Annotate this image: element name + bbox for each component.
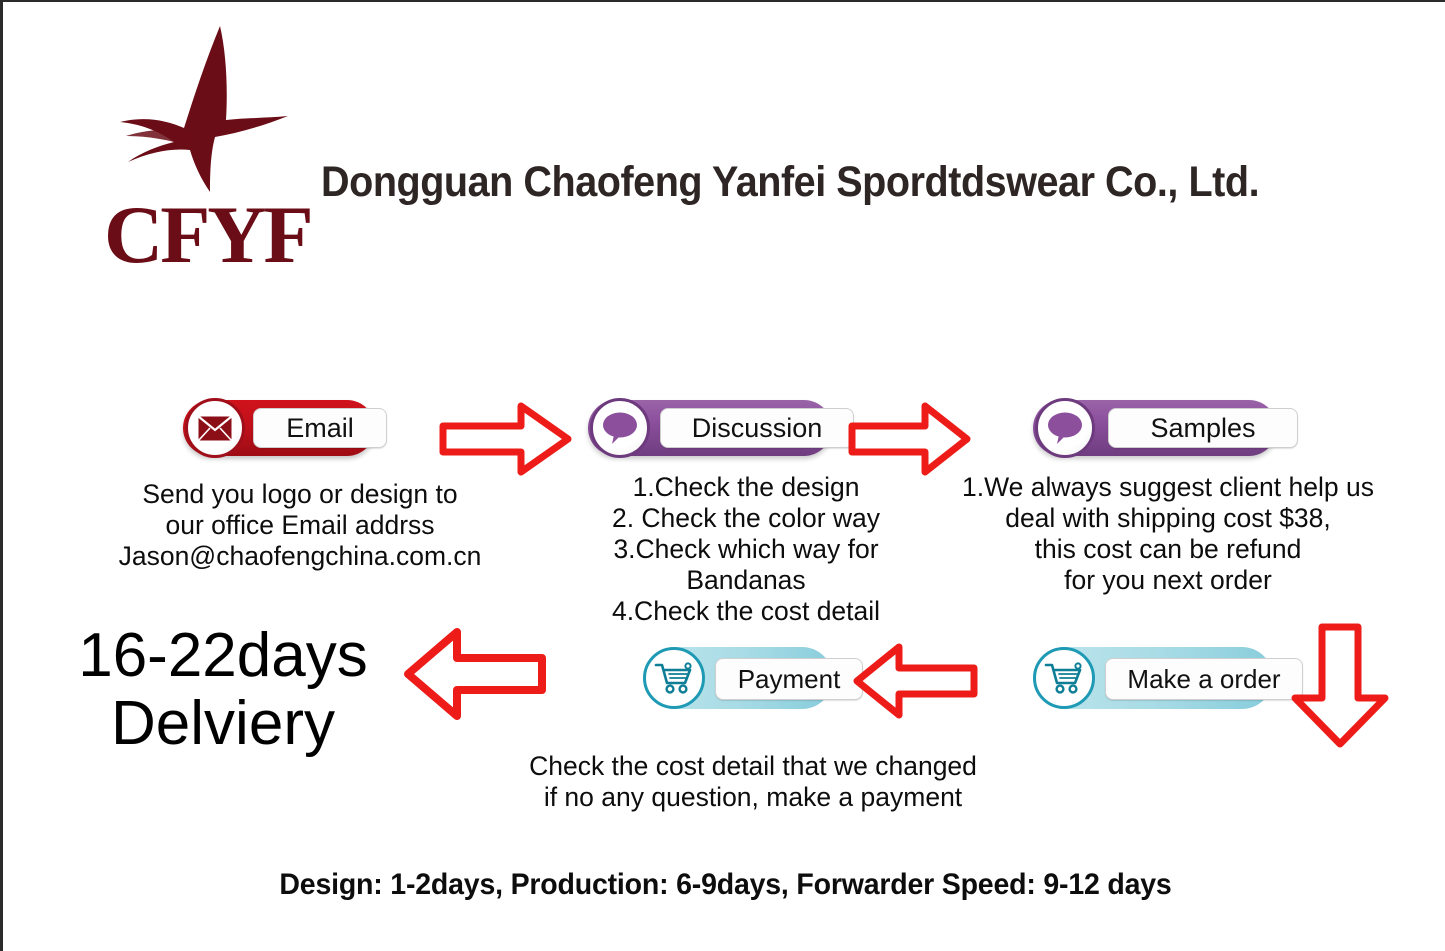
shopping-cart-icon bbox=[643, 647, 705, 709]
process-infographic: CFYF Dongguan Chaofeng Yanfei Spordtdswe… bbox=[0, 0, 1445, 951]
header: CFYF Dongguan Chaofeng Yanfei Spordtdswe… bbox=[3, 2, 1445, 292]
logo-wordmark: CFYF bbox=[104, 194, 311, 276]
badge-label-samples: Samples bbox=[1108, 408, 1298, 448]
step-badge-email[interactable]: Email bbox=[183, 400, 375, 456]
badge-label-payment: Payment bbox=[715, 658, 863, 700]
caption-samples: 1.We always suggest client help us deal … bbox=[943, 472, 1393, 596]
envelope-icon bbox=[185, 398, 245, 458]
shopping-cart-icon bbox=[1033, 647, 1095, 709]
page-title: Dongguan Chaofeng Yanfei Spordtdswear Co… bbox=[321, 158, 1259, 207]
caption-discussion: 1.Check the design 2. Check the color wa… bbox=[563, 472, 929, 627]
step-badge-discussion[interactable]: Discussion bbox=[588, 400, 832, 456]
arrow-right-discussion-to-samples bbox=[845, 400, 973, 478]
badge-label-email: Email bbox=[253, 408, 387, 448]
step-badge-make-order[interactable]: Make a order bbox=[1033, 647, 1273, 709]
caption-payment: Check the cost detail that we changed if… bbox=[508, 751, 998, 813]
arrow-right-email-to-discussion bbox=[435, 400, 575, 478]
step-badge-samples[interactable]: Samples bbox=[1033, 400, 1277, 456]
speech-bubble-icon bbox=[590, 398, 650, 458]
badge-label-discussion: Discussion bbox=[660, 408, 854, 448]
arrow-left-make-order-to-payment bbox=[851, 640, 981, 722]
speech-bubble-icon bbox=[1035, 398, 1095, 458]
footer-summary: Design: 1-2days, Production: 6-9days, Fo… bbox=[39, 868, 1412, 902]
caption-email: Send you logo or design to our office Em… bbox=[95, 479, 505, 572]
delivery-time-text: 16-22days Delviery bbox=[43, 622, 403, 758]
badge-label-make-order: Make a order bbox=[1105, 658, 1303, 700]
arrow-down-samples-to-make-order bbox=[1288, 620, 1392, 750]
step-badge-payment[interactable]: Payment bbox=[643, 647, 833, 709]
company-logo: CFYF bbox=[98, 24, 328, 274]
flying-bird-icon bbox=[98, 24, 328, 199]
arrow-left-payment-to-delivery bbox=[401, 624, 549, 724]
